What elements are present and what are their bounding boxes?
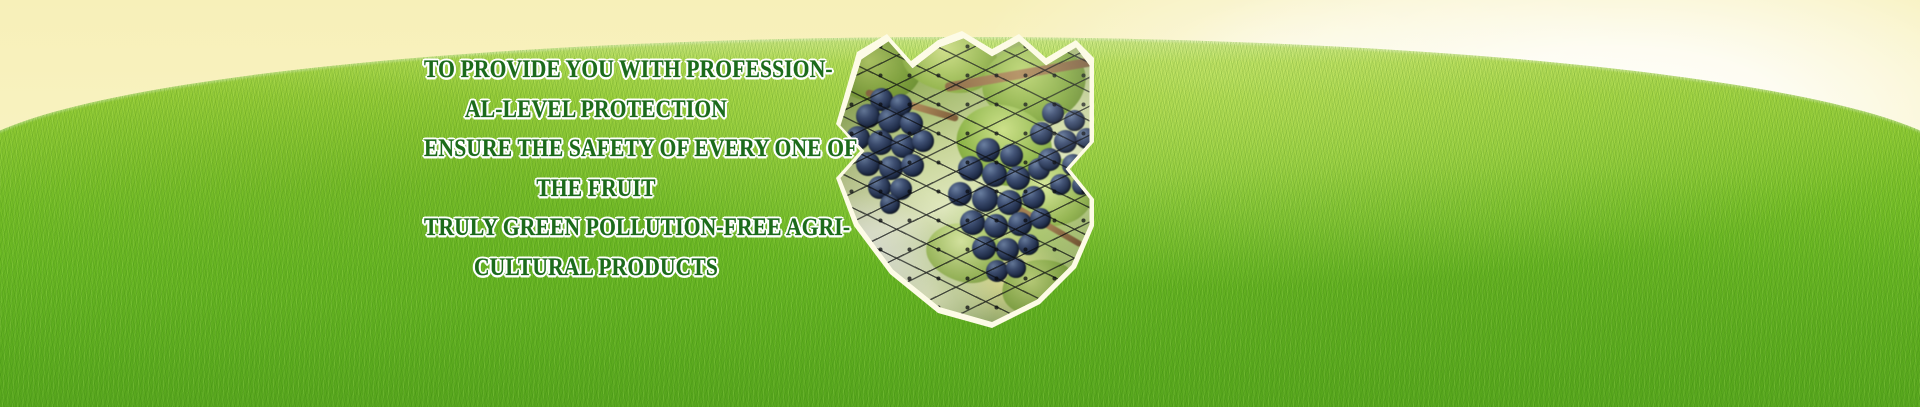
headline-line-1: TO PROVIDE YOU WITH PROFESSION- xyxy=(424,50,768,90)
hero-banner: TO PROVIDE YOU WITH PROFESSION- AL-LEVEL… xyxy=(0,0,1920,407)
headline-line-6: CULTURAL PRODUCTS xyxy=(424,248,768,288)
shield-emblem xyxy=(806,28,1106,328)
headline-line-2: AL-LEVEL PROTECTION xyxy=(424,90,768,130)
headline-line-3: ENSURE THE SAFETY OF EVERY ONE OF xyxy=(424,129,768,169)
headline-text-block: TO PROVIDE YOU WITH PROFESSION- AL-LEVEL… xyxy=(424,50,768,287)
headline-line-4: THE FRUIT xyxy=(424,169,768,209)
headline-line-5: TRULY GREEN POLLUTION-FREE AGRI- xyxy=(424,208,768,248)
